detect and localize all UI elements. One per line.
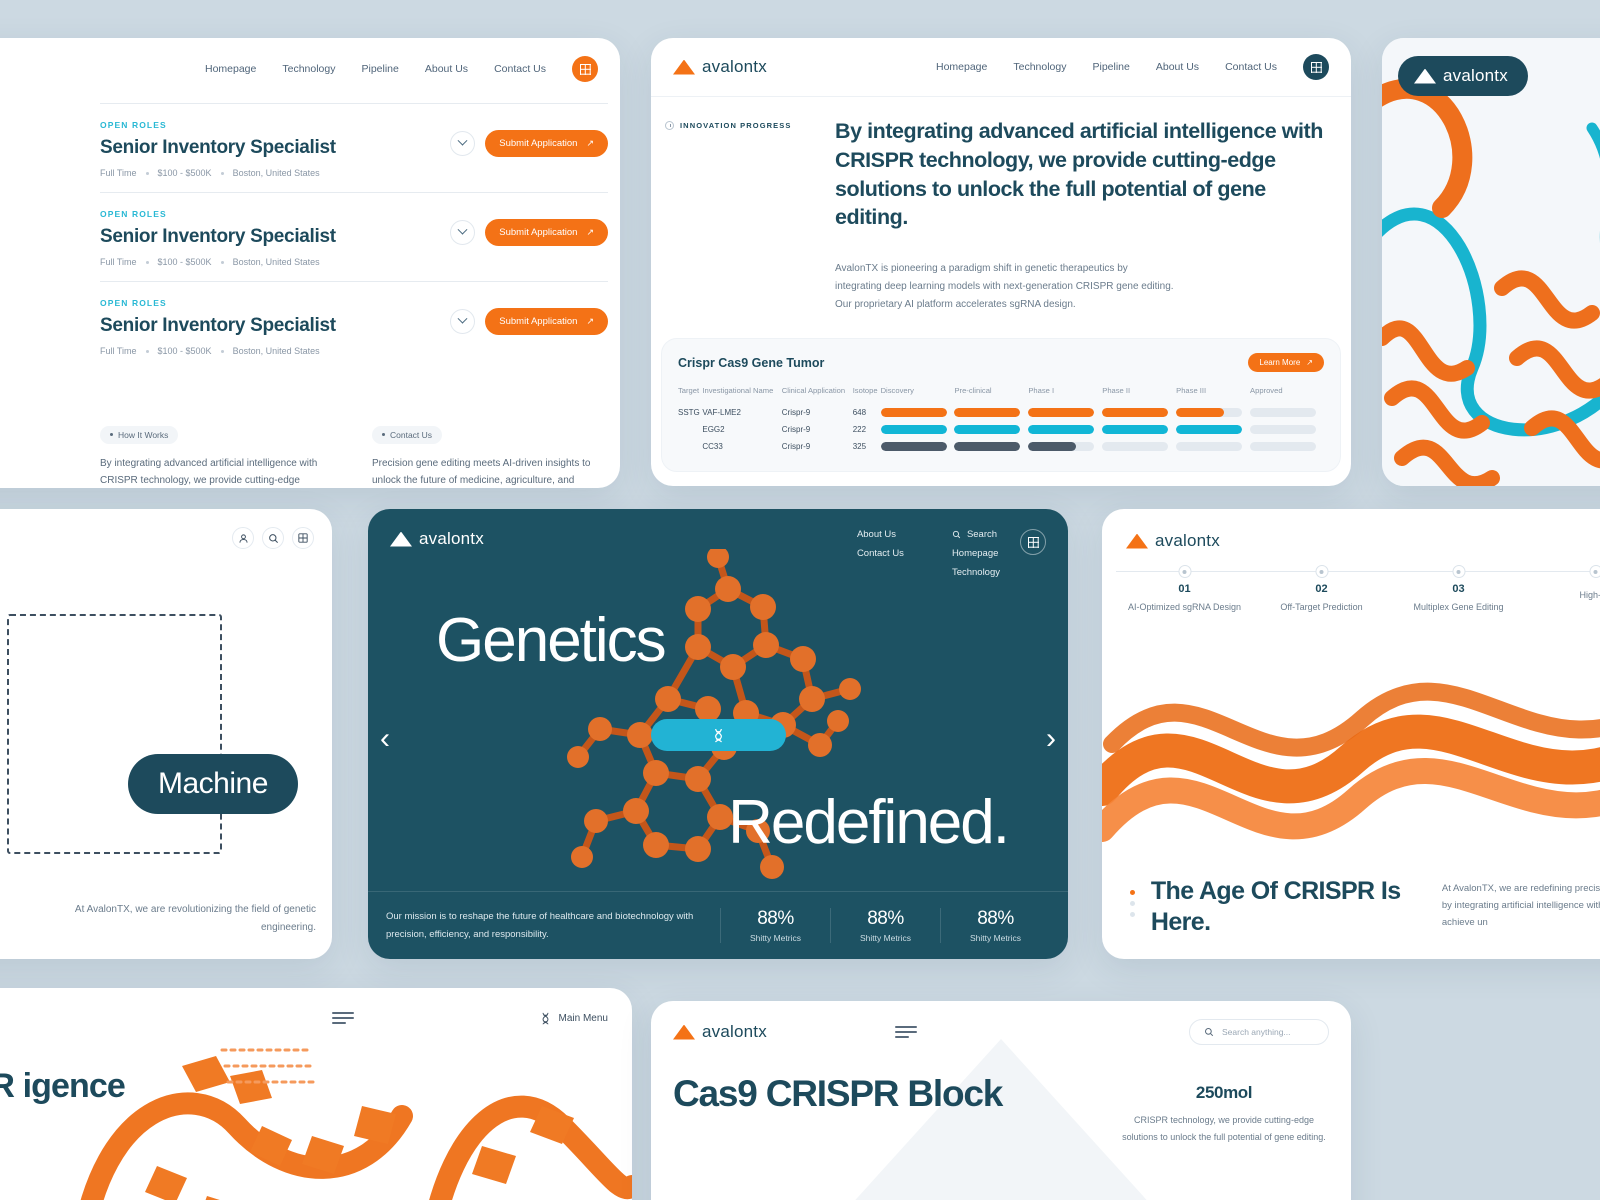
cell-phase-bar — [954, 404, 1028, 421]
col-phase-ii: Phase II — [1102, 386, 1176, 404]
cell-clinical-application: Crispr-9 — [782, 438, 853, 455]
cell-isotope: 648 — [853, 404, 881, 421]
stat-label: Shitty Metrics — [947, 933, 1044, 943]
phase-progress-bar — [954, 408, 1020, 417]
job-tag: OPEN ROLES — [100, 120, 608, 130]
pill-label: How It Works — [118, 430, 168, 440]
logo-mark-icon — [1414, 69, 1436, 84]
phase-progress-bar — [1250, 442, 1316, 451]
main-menu-card: avalontx Main Menu Age Of PR igence — [0, 988, 632, 1200]
cell-investigational-name: CC33 — [702, 438, 781, 455]
table-row: SSTGVAF-LME2Crispr-9648 — [678, 404, 1324, 421]
arrow-up-right-icon: ↗ — [586, 138, 594, 149]
learn-more-button[interactable]: Learn More ↗ — [1248, 353, 1324, 372]
table-row: CC33Crispr-9325 — [678, 438, 1324, 455]
pill-label: Contact Us — [390, 430, 432, 440]
stat-item: 88% Shitty Metrics — [830, 908, 940, 943]
job-tag: OPEN ROLES — [100, 298, 608, 308]
col-clinical-application: Clinical Application — [782, 386, 853, 404]
selection-box — [7, 614, 222, 854]
cell-phase-bar — [1028, 421, 1102, 438]
phase-progress-bar — [1102, 408, 1168, 417]
stat-value: 88% — [947, 908, 1044, 930]
footer-column-how-it-works: How It Works By integrating advanced art… — [100, 423, 328, 488]
phase-progress-bar — [881, 408, 947, 417]
cell-target: SSTG — [678, 404, 702, 421]
innovation-header: avalontx Homepage Technology Pipeline Ab… — [651, 38, 1351, 96]
dna-strand-illustration — [62, 1036, 632, 1200]
cas9-metric-block: 250mol CRISPR technology, we provide cut… — [1119, 1083, 1329, 1145]
job-location: Boston, United States — [233, 257, 320, 267]
cas9-metric-body: CRISPR technology, we provide cutting-ed… — [1119, 1112, 1329, 1145]
dna-chip-button[interactable] — [651, 719, 786, 751]
job-type: Full Time — [100, 346, 137, 356]
user-icon[interactable] — [232, 527, 254, 549]
machine-card: Machine At AvalonTX, we are revolutioniz… — [0, 509, 332, 959]
innovation-heading: By integrating advanced artificial intel… — [835, 117, 1329, 232]
nav-link-about-us[interactable]: About Us — [857, 529, 904, 540]
phase-progress-bar — [881, 425, 947, 434]
dna-icon — [540, 1012, 551, 1025]
phase-progress-bar — [954, 442, 1020, 451]
phase-progress-bar — [1102, 442, 1168, 451]
protein-ribbon-illustration — [1382, 38, 1600, 486]
carousel-prev-button[interactable]: ‹ — [380, 724, 390, 754]
submit-application-button[interactable]: Submit Application ↗ — [485, 219, 608, 246]
main-menu-header: avalontx Main Menu — [0, 988, 632, 1028]
pipeline-table-body: SSTGVAF-LME2Crispr-9648EGG2Crispr-9222CC… — [678, 404, 1324, 455]
ribbon-illustration — [1102, 639, 1600, 879]
cas9-card: avalontx Search anything... Cas9 CRISPR … — [651, 1001, 1351, 1200]
arrow-up-right-icon: ↗ — [586, 316, 594, 327]
stat-label: Shitty Metrics — [837, 933, 934, 943]
step-item[interactable]: High-Th — [1527, 565, 1600, 612]
chevron-down-icon[interactable] — [450, 309, 475, 334]
genetics-card: avalontx About Us Contact Us Search Home… — [368, 509, 1068, 959]
cell-phase-bar — [1176, 421, 1250, 438]
genetics-mission: Our mission is to reshape the future of … — [386, 908, 720, 942]
stat-label: Shitty Metrics — [727, 933, 824, 943]
job-row: OPEN ROLES Senior Inventory Specialist F… — [100, 282, 608, 370]
cell-phase-bar — [1028, 438, 1102, 455]
crispr-age-card: avalontx 01 AI-Optimized sgRNA Design 02… — [1102, 509, 1600, 959]
step-item[interactable]: 02 Off-Target Prediction — [1253, 565, 1390, 612]
logo[interactable]: avalontx — [673, 57, 767, 77]
cell-clinical-application: Crispr-9 — [782, 404, 853, 421]
careers-footer: How It Works By integrating advanced art… — [100, 423, 600, 488]
step-label: High-Th — [1527, 590, 1600, 600]
nav-link-homepage[interactable]: Homepage — [205, 63, 256, 75]
job-type: Full Time — [100, 168, 137, 178]
crispr-age-footer: The Age Of CRISPR Is Here. At AvalonTX, … — [1102, 876, 1600, 937]
submit-application-label: Submit Application — [499, 316, 577, 327]
job-actions: Submit Application ↗ — [450, 308, 608, 335]
col-discovery: Discovery — [881, 386, 955, 404]
stat-value: 88% — [837, 908, 934, 930]
cell-phase-bar — [881, 404, 955, 421]
crispr-age-heading: The Age Of CRISPR Is Here. — [1151, 876, 1442, 937]
col-approved: Approved — [1250, 386, 1324, 404]
step-node-icon — [1452, 565, 1465, 578]
submit-application-label: Submit Application — [499, 138, 577, 149]
pipeline-title: Crispr Cas9 Gene Tumor — [678, 356, 824, 370]
cell-phase-bar — [1250, 421, 1324, 438]
careers-card: Homepage Technology Pipeline About Us Co… — [0, 38, 620, 488]
job-actions: Submit Application ↗ — [450, 130, 608, 157]
cell-phase-bar — [1176, 404, 1250, 421]
job-row: OPEN ROLES Senior Inventory Specialist F… — [100, 104, 608, 192]
nav-link-homepage[interactable]: Homepage — [936, 61, 987, 73]
info-icon — [665, 121, 674, 130]
cell-phase-bar — [1102, 421, 1176, 438]
job-row: OPEN ROLES Senior Inventory Specialist F… — [100, 193, 608, 281]
innovation-copy: By integrating advanced artificial intel… — [835, 117, 1329, 314]
col-target: Target — [678, 386, 702, 404]
submit-application-button[interactable]: Submit Application ↗ — [485, 130, 608, 157]
innovation-body: INNOVATION PROGRESS By integrating advan… — [651, 97, 1351, 314]
col-isotope: Isotope — [853, 386, 881, 404]
innovation-card: avalontx Homepage Technology Pipeline Ab… — [651, 38, 1351, 486]
grid-icon[interactable] — [292, 527, 314, 549]
phase-progress-bar — [881, 442, 947, 451]
machine-caption: At AvalonTX, we are revolutionizing the … — [61, 901, 316, 937]
logo-mark-icon — [390, 532, 412, 547]
phase-progress-bar — [1028, 442, 1094, 451]
step-label: AI-Optimized sgRNA Design — [1116, 602, 1253, 612]
logo[interactable]: avalontx — [1126, 531, 1220, 551]
genetics-footer: Our mission is to reshape the future of … — [368, 891, 1068, 959]
chevron-down-icon[interactable] — [450, 220, 475, 245]
cell-target — [678, 438, 702, 455]
logo-tile-card: avalontx — [1382, 38, 1600, 486]
phase-progress-bar — [1028, 425, 1094, 434]
crispr-age-body: At AvalonTX, we are redefining precision… — [1442, 876, 1600, 931]
cell-target — [678, 421, 702, 438]
search-icon[interactable] — [262, 527, 284, 549]
cell-phase-bar — [954, 421, 1028, 438]
stat-value: 88% — [727, 908, 824, 930]
eyebrow-label: INNOVATION PROGRESS — [680, 121, 791, 130]
footer-text: By integrating advanced artificial intel… — [100, 455, 328, 489]
nav-link-about-us[interactable]: About Us — [1156, 61, 1199, 73]
hamburger-menu-icon[interactable] — [895, 1026, 917, 1038]
pipeline-panel-header: Crispr Cas9 Gene Tumor Learn More ↗ — [678, 353, 1324, 372]
arrow-up-right-icon: ↗ — [586, 227, 594, 238]
cell-phase-bar — [881, 438, 955, 455]
logo[interactable]: avalontx — [390, 529, 484, 549]
nav-link-technology[interactable]: Technology — [282, 63, 335, 75]
learn-more-label: Learn More — [1259, 358, 1300, 367]
cell-investigational-name: EGG2 — [702, 421, 781, 438]
job-list: OPEN ROLES Senior Inventory Specialist F… — [100, 103, 608, 370]
cell-clinical-application: Crispr-9 — [782, 421, 853, 438]
col-investigational-name: Investigational Name — [702, 386, 781, 404]
cell-isotope: 325 — [853, 438, 881, 455]
cell-phase-bar — [954, 438, 1028, 455]
step-item[interactable]: 01 AI-Optimized sgRNA Design — [1116, 565, 1253, 612]
cell-phase-bar — [1250, 438, 1324, 455]
cell-phase-bar — [1250, 404, 1324, 421]
phase-progress-bar — [1176, 425, 1242, 434]
genetics-stats: 88% Shitty Metrics 88% Shitty Metrics 88… — [720, 908, 1050, 943]
step-label: Multiplex Gene Editing — [1390, 602, 1527, 612]
nav-link-technology[interactable]: Technology — [1013, 61, 1066, 73]
col-phase-iii: Phase III — [1176, 386, 1250, 404]
step-number: 02 — [1253, 583, 1390, 595]
phase-progress-bar — [1250, 425, 1316, 434]
submit-application-label: Submit Application — [499, 227, 577, 238]
crispr-age-header: avalontx — [1102, 509, 1600, 551]
cell-phase-bar — [1176, 438, 1250, 455]
logo-wordmark: avalontx — [1155, 531, 1220, 551]
nav-link-search[interactable]: Search — [952, 529, 1000, 540]
pipeline-table: Target Investigational Name Clinical App… — [678, 386, 1324, 455]
footer-text: Precision gene editing meets AI-driven i… — [372, 455, 600, 489]
main-menu-label: Main Menu — [559, 1013, 608, 1024]
job-actions: Submit Application ↗ — [450, 219, 608, 246]
phase-progress-bar — [1028, 408, 1094, 417]
pipeline-panel: Crispr Cas9 Gene Tumor Learn More ↗ Targ… — [661, 338, 1341, 472]
logo-wordmark: avalontx — [1443, 66, 1508, 86]
cell-investigational-name: VAF-LME2 — [702, 404, 781, 421]
arrow-up-right-icon: ↗ — [1306, 358, 1313, 367]
footer-column-contact-us: Contact Us Precision gene editing meets … — [372, 423, 600, 488]
main-menu-button[interactable]: Main Menu — [540, 1012, 608, 1025]
careers-nav: Homepage Technology Pipeline About Us Co… — [205, 63, 546, 75]
dna-icon — [712, 728, 725, 743]
grid-icon — [1028, 537, 1039, 548]
step-number: 03 — [1390, 583, 1527, 595]
nav-link-pipeline[interactable]: Pipeline — [361, 63, 398, 75]
nav-link-contact-us[interactable]: Contact Us — [1225, 61, 1277, 73]
stat-item: 88% Shitty Metrics — [940, 908, 1050, 943]
job-salary: $100 - $500K — [158, 346, 212, 356]
col-pre-clinical: Pre-clinical — [954, 386, 1028, 404]
nav-link-about-us[interactable]: About Us — [425, 63, 468, 75]
phase-progress-bar — [1176, 408, 1242, 417]
logo-mark-icon — [1126, 534, 1148, 549]
phase-progress-bar — [954, 425, 1020, 434]
cell-isotope: 222 — [853, 421, 881, 438]
job-location: Boston, United States — [233, 168, 320, 178]
table-row: EGG2Crispr-9222 — [678, 421, 1324, 438]
col-phase-i: Phase I — [1028, 386, 1102, 404]
step-node-icon — [1178, 565, 1191, 578]
search-icon — [952, 530, 961, 539]
hamburger-menu-icon[interactable] — [332, 1012, 354, 1024]
carousel-next-button[interactable]: › — [1046, 724, 1056, 754]
logo-wordmark: avalontx — [419, 529, 484, 549]
logo-chip[interactable]: avalontx — [1398, 56, 1528, 96]
table-header-row: Target Investigational Name Clinical App… — [678, 386, 1324, 404]
phase-progress-bar — [1102, 425, 1168, 434]
pill-how-it-works: How It Works — [100, 426, 178, 444]
step-node-icon — [1589, 565, 1600, 578]
cell-phase-bar — [1028, 404, 1102, 421]
process-steps: 01 AI-Optimized sgRNA Design 02 Off-Targ… — [1102, 551, 1600, 612]
chevron-down-icon[interactable] — [450, 131, 475, 156]
job-type: Full Time — [100, 257, 137, 267]
grid-menu-button[interactable] — [572, 56, 598, 82]
submit-application-button[interactable]: Submit Application ↗ — [485, 308, 608, 335]
logo: avalontx — [1414, 66, 1508, 86]
logo-mark-icon — [673, 1025, 695, 1040]
job-meta: Full Time $100 - $500K Boston, United St… — [100, 346, 608, 356]
job-location: Boston, United States — [233, 346, 320, 356]
genetics-title-line-2: Redefined. — [728, 787, 1008, 858]
pill-contact-us: Contact Us — [372, 426, 442, 444]
job-salary: $100 - $500K — [158, 257, 212, 267]
machine-toolbar — [232, 527, 314, 549]
cas9-metric-value: 250mol — [1119, 1083, 1329, 1103]
grid-icon — [580, 64, 591, 75]
cell-phase-bar — [1102, 438, 1176, 455]
step-item[interactable]: 03 Multiplex Gene Editing — [1390, 565, 1527, 612]
careers-header: Homepage Technology Pipeline About Us Co… — [0, 38, 620, 100]
logo-mark-icon — [673, 60, 695, 75]
nav-link-pipeline[interactable]: Pipeline — [1092, 61, 1129, 73]
grid-icon — [1311, 62, 1322, 73]
job-meta: Full Time $100 - $500K Boston, United St… — [100, 257, 608, 267]
logo-wordmark: avalontx — [702, 57, 767, 77]
nav-link-contact-us[interactable]: Contact Us — [494, 63, 546, 75]
screenshot-stage: Homepage Technology Pipeline About Us Co… — [0, 0, 1600, 1200]
step-node-icon — [1315, 565, 1328, 578]
step-number: 01 — [1116, 583, 1253, 595]
genetics-title-line-1: Genetics — [436, 605, 665, 676]
step-label: Off-Target Prediction — [1253, 602, 1390, 612]
phase-progress-bar — [1250, 408, 1316, 417]
innovation-eyebrow: INNOVATION PROGRESS — [665, 121, 835, 130]
cas9-heading: Cas9 CRISPR Block — [673, 1073, 1002, 1115]
job-tag: OPEN ROLES — [100, 209, 608, 219]
cell-phase-bar — [1102, 404, 1176, 421]
carousel-dots[interactable] — [1114, 876, 1151, 923]
innovation-body-text: AvalonTX is pioneering a paradigm shift … — [835, 260, 1175, 314]
innovation-nav: Homepage Technology Pipeline About Us Co… — [936, 54, 1329, 80]
innovation-eyebrow-wrap: INNOVATION PROGRESS — [665, 117, 835, 314]
nav-label: Search — [967, 529, 997, 540]
job-meta: Full Time $100 - $500K Boston, United St… — [100, 168, 608, 178]
cell-phase-bar — [881, 421, 955, 438]
grid-menu-button[interactable] — [1303, 54, 1329, 80]
job-salary: $100 - $500K — [158, 168, 212, 178]
phase-progress-bar — [1176, 442, 1242, 451]
machine-badge[interactable]: Machine — [128, 754, 298, 814]
stat-item: 88% Shitty Metrics — [720, 908, 830, 943]
